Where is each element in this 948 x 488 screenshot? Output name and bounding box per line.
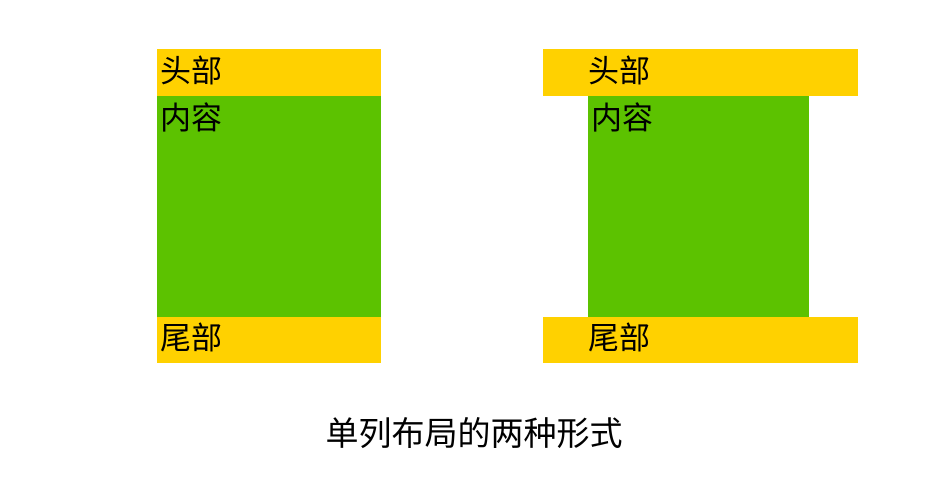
diagram-b-content-label: 内容 xyxy=(591,96,653,135)
diagram-b-header-block: 头部 xyxy=(543,49,858,96)
diagram-b-header-label: 头部 xyxy=(588,56,650,87)
figure-canvas: 头部 内容 尾部 头部 内容 尾部 单列布局的两种形式 xyxy=(0,0,948,488)
diagram-b-footer-label: 尾部 xyxy=(588,324,650,355)
diagram-inset-content-column: 头部 内容 尾部 xyxy=(0,0,948,400)
diagram-b-footer-block: 尾部 xyxy=(543,317,858,363)
diagram-b-content-block: 内容 xyxy=(588,96,809,317)
figure-caption: 单列布局的两种形式 xyxy=(0,414,948,454)
